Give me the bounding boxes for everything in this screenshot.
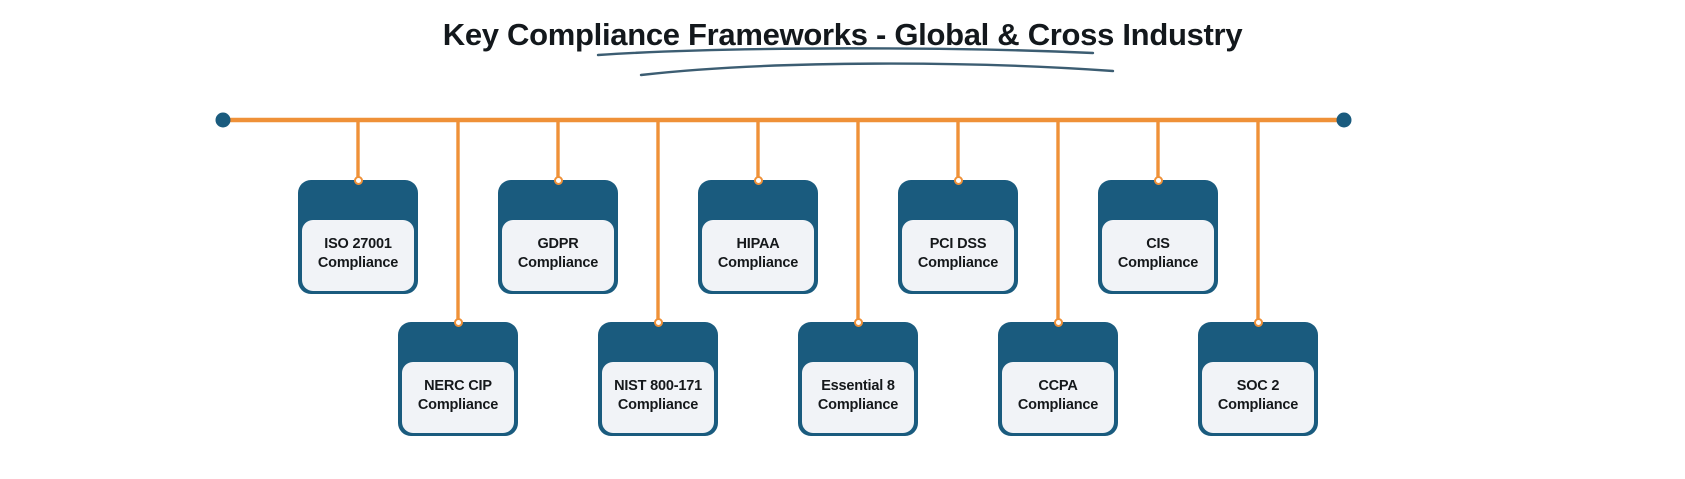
framework-card-essential-8[interactable]: Essential 8 Compliance [798,322,918,436]
timeline-start-endcap-icon [216,113,231,128]
card-panel: Essential 8 Compliance [802,362,914,433]
framework-card-gdpr[interactable]: GDPR Compliance [498,180,618,294]
timeline-end-endcap-icon [1337,113,1352,128]
node-dot-icon-iso-27001 [354,176,363,185]
framework-card-nerc-cip[interactable]: NERC CIP Compliance [398,322,518,436]
card-panel: PCI DSS Compliance [902,220,1014,291]
node-dot-icon-essential-8 [854,318,863,327]
double-swoosh-underline-icon [493,44,1193,100]
node-dot-icon-nerc-cip [454,318,463,327]
infographic-canvas: Key Compliance Frameworks - Global & Cro… [0,0,1685,479]
node-dot-icon-pci-dss [954,176,963,185]
card-label: PCI DSS Compliance [918,235,998,271]
card-panel: HIPAA Compliance [702,220,814,291]
page-title: Key Compliance Frameworks - Global & Cro… [0,18,1685,52]
card-panel: ISO 27001 Compliance [302,220,414,291]
framework-card-soc-2[interactable]: SOC 2 Compliance [1198,322,1318,436]
title-block: Key Compliance Frameworks - Global & Cro… [0,18,1685,52]
framework-card-nist-800-171[interactable]: NIST 800-171 Compliance [598,322,718,436]
framework-card-pci-dss[interactable]: PCI DSS Compliance [898,180,1018,294]
framework-card-ccpa[interactable]: CCPA Compliance [998,322,1118,436]
card-panel: NIST 800-171 Compliance [602,362,714,433]
card-panel: GDPR Compliance [502,220,614,291]
framework-card-cis[interactable]: CIS Compliance [1098,180,1218,294]
node-dot-icon-ccpa [1054,318,1063,327]
node-dot-icon-gdpr [554,176,563,185]
card-label: CIS Compliance [1118,235,1198,271]
card-panel: SOC 2 Compliance [1202,362,1314,433]
framework-card-hipaa[interactable]: HIPAA Compliance [698,180,818,294]
card-label: NERC CIP Compliance [418,377,498,413]
card-label: CCPA Compliance [1018,377,1098,413]
card-label: SOC 2 Compliance [1218,377,1298,413]
card-panel: CCPA Compliance [1002,362,1114,433]
card-label: Essential 8 Compliance [818,377,898,413]
card-panel: NERC CIP Compliance [402,362,514,433]
node-dot-icon-hipaa [754,176,763,185]
node-dot-icon-nist-800-171 [654,318,663,327]
card-label: ISO 27001 Compliance [318,235,398,271]
card-label: HIPAA Compliance [718,235,798,271]
card-label: NIST 800-171 Compliance [614,377,702,413]
card-label: GDPR Compliance [518,235,598,271]
node-dot-icon-cis [1154,176,1163,185]
framework-card-iso-27001[interactable]: ISO 27001 Compliance [298,180,418,294]
card-panel: CIS Compliance [1102,220,1214,291]
node-dot-icon-soc-2 [1254,318,1263,327]
